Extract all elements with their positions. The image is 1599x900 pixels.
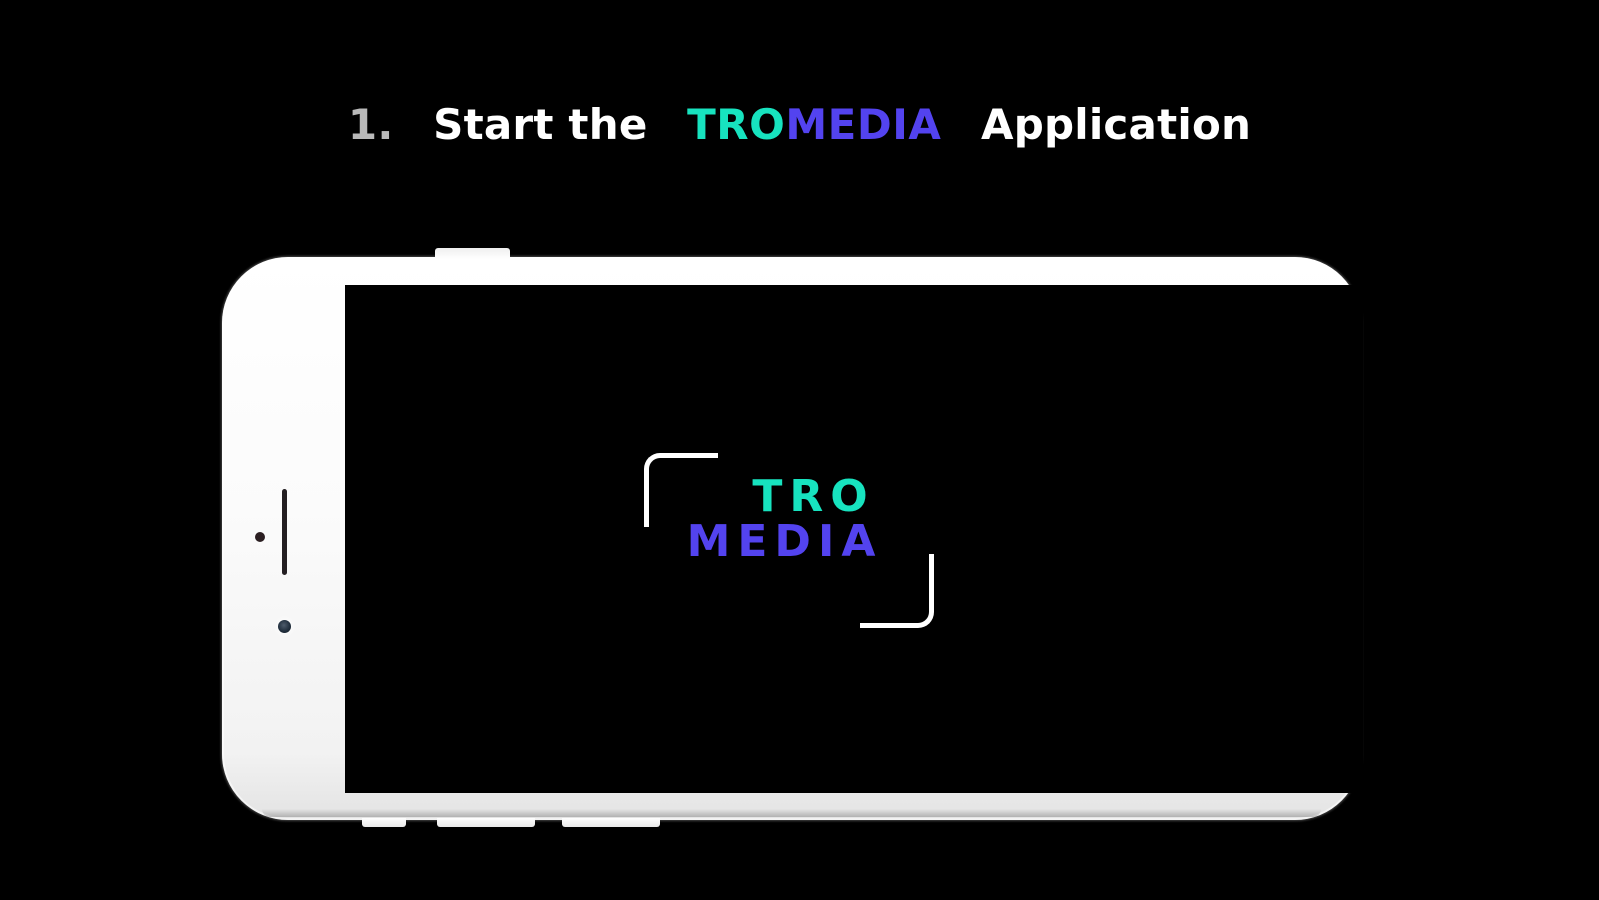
app-logo-wordmark: TRO MEDIA bbox=[644, 475, 934, 565]
mute-switch[interactable] bbox=[362, 818, 406, 827]
brand-name-media: MEDIA bbox=[785, 100, 941, 149]
volume-down-button[interactable] bbox=[562, 818, 660, 827]
step-text-before-brand: Start the bbox=[433, 100, 647, 149]
step-number: 1. bbox=[348, 100, 394, 149]
app-logo-line-tro: TRO bbox=[644, 475, 934, 520]
front-camera-icon bbox=[278, 620, 291, 633]
app-logo-line-media: MEDIA bbox=[644, 520, 934, 565]
volume-up-button[interactable] bbox=[437, 818, 535, 827]
brand-name-tro: TRO bbox=[687, 100, 785, 149]
proximity-sensor-icon bbox=[255, 532, 265, 542]
earpiece-speaker-icon bbox=[282, 489, 287, 575]
app-splash-logo: TRO MEDIA bbox=[644, 453, 934, 628]
phone-screen[interactable]: TRO MEDIA bbox=[345, 285, 1363, 793]
page-title: 1. Start the TROMEDIA Application bbox=[0, 104, 1599, 146]
power-button[interactable] bbox=[435, 248, 510, 259]
step-text-after-brand: Application bbox=[981, 100, 1251, 149]
phone-device: TRO MEDIA bbox=[222, 257, 1361, 820]
